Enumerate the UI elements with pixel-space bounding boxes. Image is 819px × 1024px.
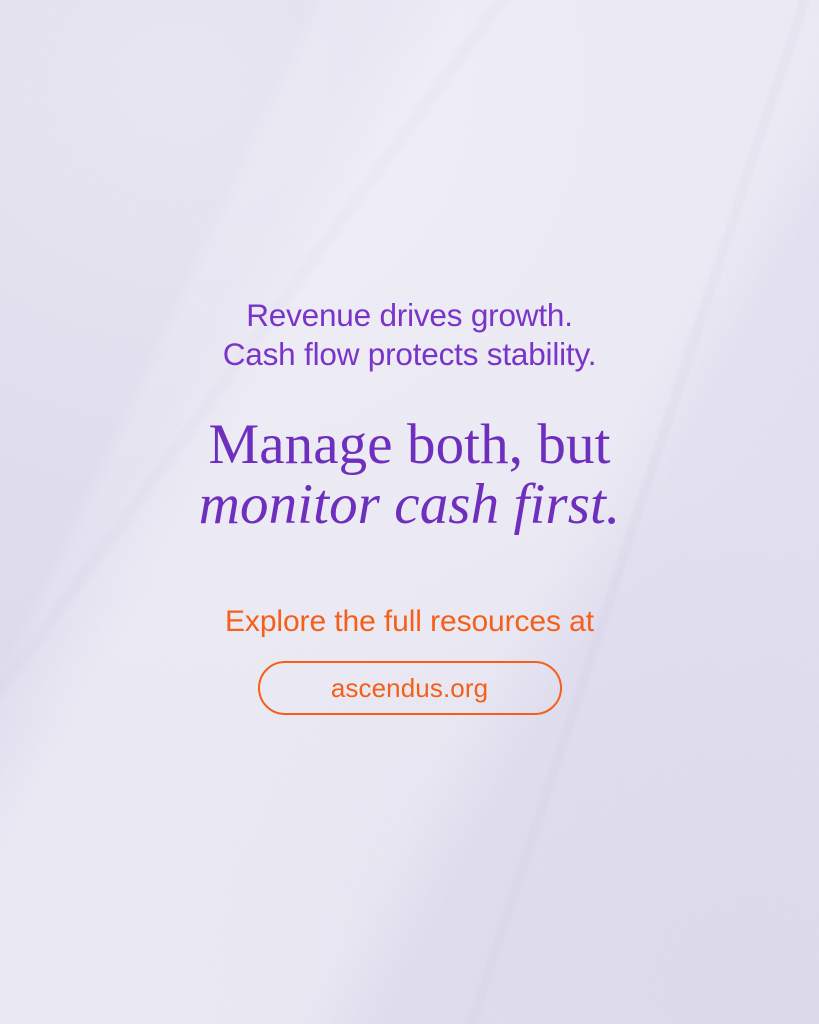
poster-canvas: Revenue drives growth. Cash flow protect… (0, 0, 819, 1024)
cta-label: Explore the full resources at (0, 535, 819, 639)
subhead-text: Revenue drives growth. Cash flow protect… (0, 0, 819, 373)
headline-line-2: monitor cash first. (0, 475, 819, 535)
poster-content: Revenue drives growth. Cash flow protect… (0, 0, 819, 715)
website-pill-button[interactable]: ascendus.org (258, 661, 562, 715)
headline-line-1: Manage both, but (0, 415, 819, 475)
cta-button-row: ascendus.org (0, 661, 819, 715)
headline: Manage both, but monitor cash first. (0, 373, 819, 535)
